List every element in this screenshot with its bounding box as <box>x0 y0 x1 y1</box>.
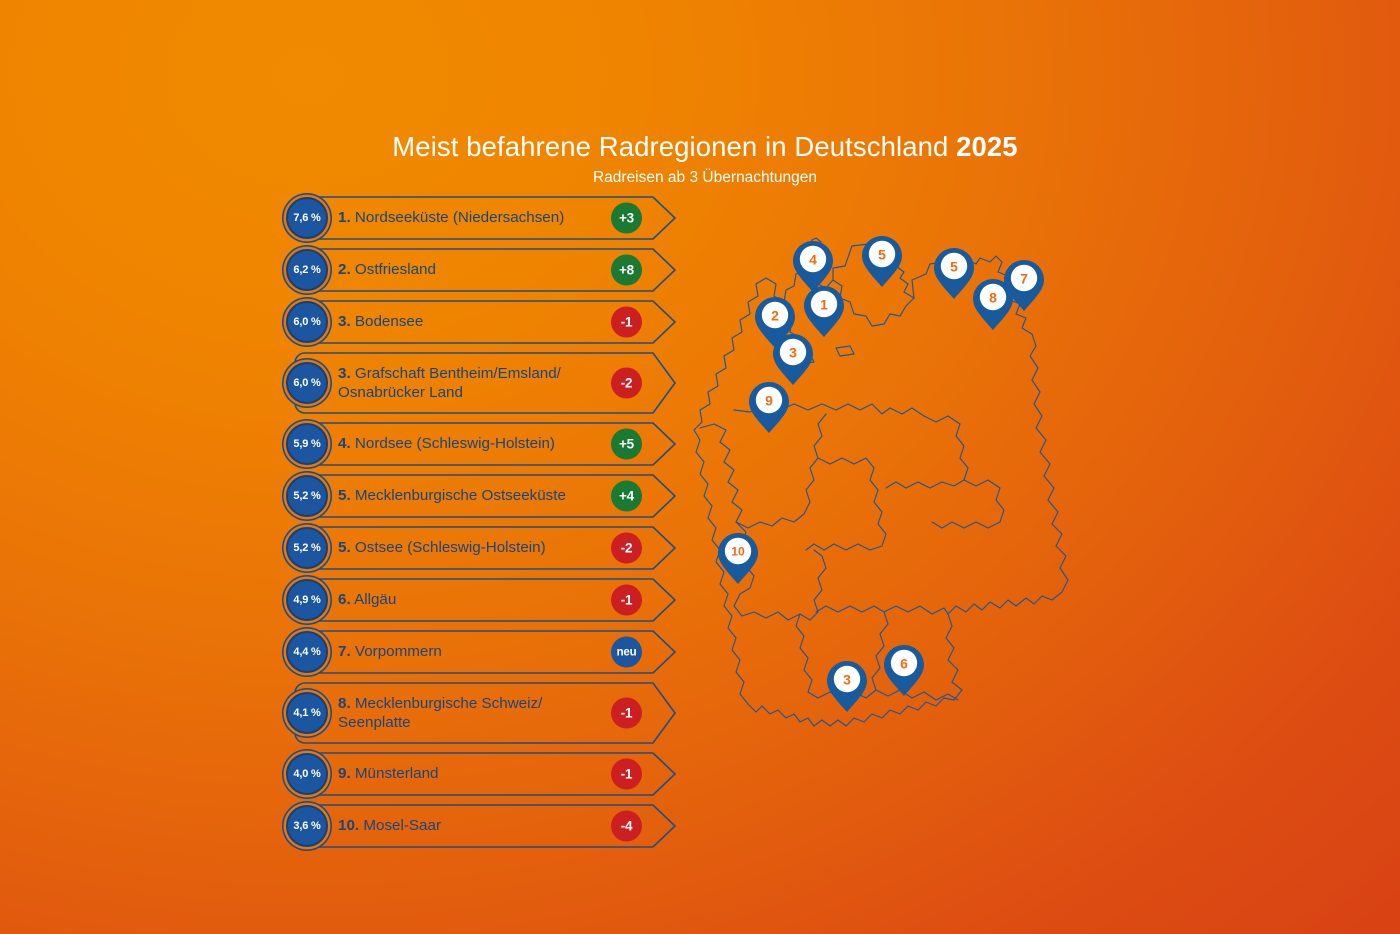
change-badge-up: +5 <box>611 429 642 460</box>
page-title: Meist befahrene Radregionen in Deutschla… <box>10 132 1400 162</box>
map-pin-number: 5 <box>878 247 886 263</box>
ranking-row: 4,0 %9. Münsterland-1 <box>286 752 676 796</box>
map-pin-number: 3 <box>843 672 851 688</box>
change-badge-value: -1 <box>621 706 633 721</box>
change-badge-up: +4 <box>611 481 642 512</box>
change-badge-value: -2 <box>621 541 633 556</box>
map-pin-number: 6 <box>900 656 908 672</box>
germany-map: 4557812391036 <box>690 228 1110 763</box>
ranking-row: 4,4 %7. Vorpommernneu <box>286 630 676 674</box>
change-badge-value: -1 <box>621 315 633 330</box>
region-label: 3. Bodensee <box>338 300 606 344</box>
change-badge-value: neu <box>617 646 637 658</box>
region-name: Nordseeküste (Niedersachsen) <box>355 209 564 226</box>
map-pin[interactable]: 9 <box>749 382 789 433</box>
map-pin-number: 1 <box>820 297 828 313</box>
region-label: 7. Vorpommern <box>338 630 606 674</box>
change-badge-value: +5 <box>619 437 634 452</box>
region-name: Nordsee (Schleswig-Holstein) <box>355 435 555 452</box>
percentage-value: 5,2 % <box>293 542 320 554</box>
region-label-line: 3. Grafschaft Bentheim/Emsland/ <box>338 364 606 383</box>
page-subtitle: Radreisen ab 3 Übernachtungen <box>10 169 1400 187</box>
region-label: 4. Nordsee (Schleswig-Holstein) <box>338 422 606 466</box>
region-label: 9. Münsterland <box>338 752 606 796</box>
percentage-value: 4,0 % <box>293 768 320 780</box>
ranking-row: 5,9 %4. Nordsee (Schleswig-Holstein)+5 <box>286 422 676 466</box>
percentage-circle: 4,4 % <box>286 631 328 673</box>
rank-number: 2. <box>338 261 351 278</box>
ranking-list: 7,6 %1. Nordseeküste (Niedersachsen)+36,… <box>286 196 676 856</box>
map-pin[interactable]: 3 <box>827 661 867 712</box>
title-year: 2025 <box>956 131 1018 162</box>
ranking-row: 6,0 %3. Grafschaft Bentheim/Emsland/Osna… <box>286 352 676 414</box>
percentage-circle: 6,2 % <box>286 249 328 291</box>
change-badge-value: +4 <box>619 489 634 504</box>
map-pin[interactable]: 5 <box>934 248 974 299</box>
region-name: Ostsee (Schleswig-Holstein) <box>355 539 546 556</box>
region-label: 1. Nordseeküste (Niedersachsen) <box>338 196 606 240</box>
percentage-circle: 4,9 % <box>286 579 328 621</box>
change-badge-value: +8 <box>619 263 634 278</box>
map-pin-group: 4557812391036 <box>718 236 1044 712</box>
rank-number: 10. <box>338 817 359 834</box>
rank-number: 3. <box>338 365 351 382</box>
percentage-value: 3,6 % <box>293 820 320 832</box>
region-label: 6. Allgäu <box>338 578 606 622</box>
change-badge-down: -2 <box>611 533 642 564</box>
change-badge-down: -1 <box>611 307 642 338</box>
percentage-value: 4,4 % <box>293 646 320 658</box>
region-label-line: 9. Münsterland <box>338 764 606 783</box>
rank-number: 3. <box>338 313 351 330</box>
change-badge-down: -4 <box>611 811 642 842</box>
percentage-circle: 6,0 % <box>286 301 328 343</box>
rank-number: 6. <box>338 591 351 608</box>
region-name: Mecklenburgische Schweiz/ <box>355 695 542 712</box>
rank-number: 5. <box>338 539 351 556</box>
map-pin-number: 4 <box>809 252 817 268</box>
change-badge-down: -1 <box>611 698 642 729</box>
ranking-row: 6,2 %2. Ostfriesland+8 <box>286 248 676 292</box>
map-pin[interactable]: 3 <box>773 334 813 385</box>
region-label-line: 3. Bodensee <box>338 312 606 331</box>
change-badge-value: -1 <box>621 593 633 608</box>
percentage-value: 6,2 % <box>293 264 320 276</box>
percentage-value: 4,1 % <box>293 707 320 719</box>
map-pin-number: 10 <box>731 545 745 559</box>
region-label-line: 8. Mecklenburgische Schweiz/ <box>338 694 606 713</box>
percentage-value: 4,9 % <box>293 594 320 606</box>
change-badge-value: -2 <box>621 376 633 391</box>
rank-number: 9. <box>338 765 351 782</box>
region-name-cont: Osnabrücker Land <box>338 384 463 401</box>
rank-number: 4. <box>338 435 351 452</box>
region-name: Allgäu <box>354 591 396 608</box>
region-name: Mosel-Saar <box>363 817 441 834</box>
ranking-row: 7,6 %1. Nordseeküste (Niedersachsen)+3 <box>286 196 676 240</box>
map-pin-number: 3 <box>789 345 797 361</box>
header: Meist befahrene Radregionen in Deutschla… <box>0 132 1400 187</box>
region-label-line: 10. Mosel-Saar <box>338 816 606 835</box>
percentage-circle: 3,6 % <box>286 805 328 847</box>
percentage-circle: 4,0 % <box>286 753 328 795</box>
ranking-row: 5,2 %5. Ostsee (Schleswig-Holstein)-2 <box>286 526 676 570</box>
region-label: 5. Mecklenburgische Ostseeküste <box>338 474 606 518</box>
region-label-line: Seenplatte <box>338 713 606 732</box>
region-label-line: 5. Mecklenburgische Ostseeküste <box>338 486 606 505</box>
map-pin-number: 5 <box>950 259 958 275</box>
map-pin-number: 9 <box>765 393 773 409</box>
percentage-value: 6,0 % <box>293 377 320 389</box>
percentage-circle: 4,1 % <box>286 692 328 734</box>
change-badge-up: +8 <box>611 255 642 286</box>
change-badge-value: -1 <box>621 767 633 782</box>
ranking-row: 4,1 %8. Mecklenburgische Schweiz/Seenpla… <box>286 682 676 744</box>
title-main-text: Meist befahrene Radregionen in Deutschla… <box>392 131 956 162</box>
region-label-line: 7. Vorpommern <box>338 642 606 661</box>
percentage-value: 7,6 % <box>293 212 320 224</box>
ranking-row: 3,6 %10. Mosel-Saar-4 <box>286 804 676 848</box>
change-badge-value: -4 <box>621 819 633 834</box>
change-badge-up: +3 <box>611 203 642 234</box>
ranking-row: 4,9 %6. Allgäu-1 <box>286 578 676 622</box>
infographic-canvas: Meist befahrene Radregionen in Deutschla… <box>0 0 1400 934</box>
map-pin[interactable]: 6 <box>884 645 924 696</box>
percentage-circle: 5,2 % <box>286 527 328 569</box>
map-pin[interactable]: 5 <box>862 236 902 287</box>
region-name: Ostfriesland <box>355 261 436 278</box>
region-name: Bodensee <box>355 313 423 330</box>
change-badge-down: -2 <box>611 368 642 399</box>
percentage-circle: 6,0 % <box>286 362 328 404</box>
change-badge-new: neu <box>611 637 642 668</box>
map-pin[interactable]: 1 <box>804 286 844 337</box>
map-pin[interactable]: 4 <box>793 241 833 292</box>
percentage-circle: 5,9 % <box>286 423 328 465</box>
change-badge-down: -1 <box>611 759 642 790</box>
percentage-circle: 7,6 % <box>286 197 328 239</box>
region-label: 2. Ostfriesland <box>338 248 606 292</box>
region-label: 3. Grafschaft Bentheim/Emsland/Osnabrück… <box>338 352 606 414</box>
percentage-value: 5,9 % <box>293 438 320 450</box>
map-pin-number: 7 <box>1020 271 1028 287</box>
map-pin[interactable]: 8 <box>973 279 1013 330</box>
region-label: 5. Ostsee (Schleswig-Holstein) <box>338 526 606 570</box>
region-label: 8. Mecklenburgische Schweiz/Seenplatte <box>338 682 606 744</box>
map-state-borders <box>694 242 1068 726</box>
percentage-value: 6,0 % <box>293 316 320 328</box>
change-badge-value: +3 <box>619 211 634 226</box>
map-pin-number: 8 <box>989 290 997 306</box>
rank-number: 1. <box>338 209 351 226</box>
change-badge-down: -1 <box>611 585 642 616</box>
region-name: Mecklenburgische Ostseeküste <box>355 487 566 504</box>
region-name: Vorpommern <box>355 643 442 660</box>
region-label-line: 1. Nordseeküste (Niedersachsen) <box>338 208 606 227</box>
ranking-row: 5,2 %5. Mecklenburgische Ostseeküste+4 <box>286 474 676 518</box>
region-label-line: Osnabrücker Land <box>338 383 606 402</box>
region-name-cont: Seenplatte <box>338 714 411 731</box>
region-label-line: 2. Ostfriesland <box>338 260 606 279</box>
rank-number: 5. <box>338 487 351 504</box>
map-pin-number: 2 <box>771 308 779 324</box>
region-name: Grafschaft Bentheim/Emsland/ <box>355 365 561 382</box>
region-label-line: 5. Ostsee (Schleswig-Holstein) <box>338 538 606 557</box>
rank-number: 7. <box>338 643 351 660</box>
region-label: 10. Mosel-Saar <box>338 804 606 848</box>
map-pin[interactable]: 10 <box>718 533 758 584</box>
percentage-circle: 5,2 % <box>286 475 328 517</box>
rank-number: 8. <box>338 695 351 712</box>
region-label-line: 6. Allgäu <box>338 590 606 609</box>
region-name: Münsterland <box>355 765 439 782</box>
percentage-value: 5,2 % <box>293 490 320 502</box>
ranking-row: 6,0 %3. Bodensee-1 <box>286 300 676 344</box>
region-label-line: 4. Nordsee (Schleswig-Holstein) <box>338 434 606 453</box>
